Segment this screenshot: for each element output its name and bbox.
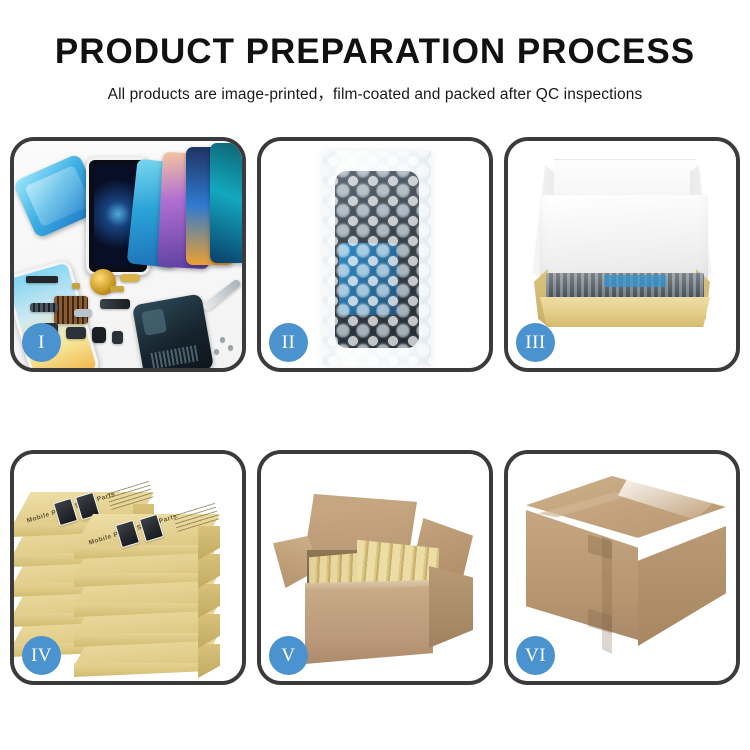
step-panel-4: Mobile Phone Spare Parts — [10, 450, 246, 685]
step-panel-1: I — [10, 137, 246, 372]
step-panel-6: VI — [504, 450, 740, 685]
step-badge-5: V — [269, 636, 308, 675]
earpiece-bar-icon — [26, 276, 58, 283]
metal-bracket-icon — [74, 309, 92, 317]
screw-icon — [220, 337, 225, 342]
gold-connector-icon — [120, 274, 140, 282]
step-badge-2: II — [269, 323, 308, 362]
screw-icon — [214, 349, 219, 354]
sim-tray-icon — [112, 331, 123, 344]
step-panel-2: II — [257, 137, 493, 372]
page-title: PRODUCT PREPARATION PROCESS — [0, 34, 750, 71]
product-preparation-infographic: PRODUCT PREPARATION PROCESS All products… — [0, 0, 750, 750]
flex-cable-icon — [30, 303, 58, 312]
loudspeaker-icon — [92, 327, 106, 343]
vibrator-motor-icon — [66, 327, 86, 339]
small-part-icon — [72, 283, 80, 289]
wrapped-parts-row-icon — [546, 273, 704, 300]
step-badge-4: IV — [22, 636, 61, 675]
steps-grid: I II — [10, 137, 740, 687]
retail-box-top-right: Mobile Phone Spare Parts — [74, 514, 220, 562]
page-subtitle: All products are image-printed，film-coat… — [0, 82, 750, 104]
flex-cable-icon — [100, 299, 130, 309]
header: PRODUCT PREPARATION PROCESS All products… — [0, 0, 750, 104]
step-panel-5: V — [257, 450, 493, 685]
gold-clip-icon — [110, 286, 124, 292]
carton-right-face-icon — [429, 566, 473, 648]
screw-icon — [228, 345, 233, 350]
step-badge-1: I — [22, 323, 61, 362]
carton-right-face-icon — [638, 526, 726, 646]
shipping-carton-sealed-icon — [526, 476, 726, 666]
box-front-panel-icon — [540, 297, 710, 327]
step-badge-6: VI — [516, 636, 555, 675]
step-panel-3: III — [504, 137, 740, 372]
foam-padding-icon — [540, 195, 708, 283]
tweezers-icon — [202, 278, 242, 311]
step-badge-3: III — [516, 323, 555, 362]
phone-screen-teal-icon — [210, 143, 242, 263]
carton-front-face-icon — [305, 586, 433, 664]
bubble-highlight-icon — [323, 151, 431, 366]
phone-back-housing-icon — [132, 293, 214, 368]
bubble-wrap-package-icon — [323, 151, 431, 366]
